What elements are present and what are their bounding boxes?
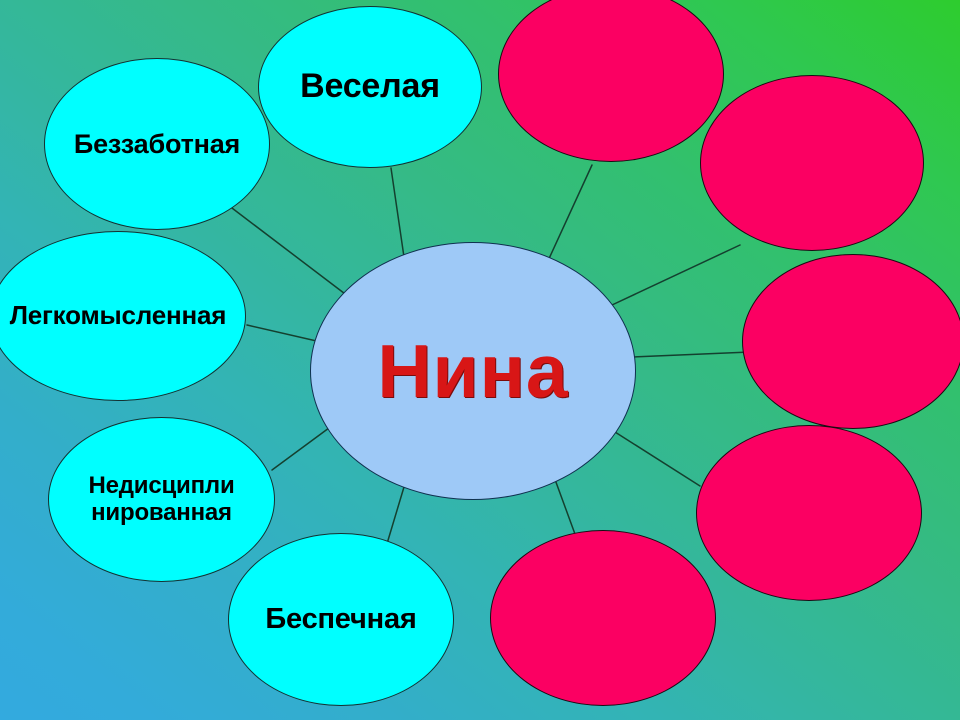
empty-node-4[interactable] <box>696 425 922 601</box>
center-node-label: Нина <box>377 328 568 414</box>
cluster-diagram-canvas: Беззаботная Веселая Легкомысленная Недис… <box>0 0 960 720</box>
trait-node-legkomyslennaya-label: Легкомысленная <box>10 302 227 329</box>
connector-line-right-3 <box>632 352 750 357</box>
trait-node-nedisciplinirovannaya[interactable]: Недисципли нированная <box>48 417 275 582</box>
empty-node-2[interactable] <box>700 75 924 251</box>
connector-line-veselaya <box>391 168 404 257</box>
connector-line-right-2 <box>612 245 740 305</box>
empty-node-3[interactable] <box>742 254 960 429</box>
trait-node-veselaya-label: Веселая <box>300 69 440 104</box>
connector-line-bezzabotnaya <box>228 205 357 303</box>
trait-node-veselaya[interactable]: Веселая <box>258 6 482 168</box>
connector-line-right-4 <box>604 425 700 486</box>
trait-node-bespechnaya-label: Беспечная <box>265 604 416 634</box>
trait-node-bezzabotnaya-label: Беззаботная <box>74 130 240 158</box>
trait-node-nedisciplinirovannaya-label: Недисципли нированная <box>49 473 274 527</box>
trait-node-bespechnaya[interactable]: Беспечная <box>228 533 454 706</box>
connector-line-right-1 <box>547 165 592 263</box>
trait-node-legkomyslennaya[interactable]: Легкомысленная <box>0 231 246 401</box>
center-node-nina[interactable]: Нина <box>310 242 636 500</box>
empty-node-5[interactable] <box>490 530 716 706</box>
trait-node-bezzabotnaya[interactable]: Беззаботная <box>44 58 270 230</box>
connector-line-nedisciplin <box>272 425 333 470</box>
